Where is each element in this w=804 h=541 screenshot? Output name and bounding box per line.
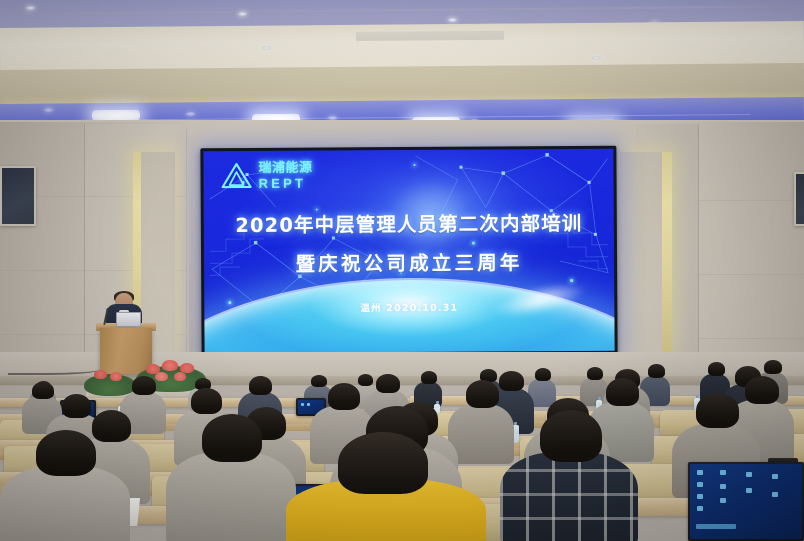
ceiling-spotlight: [262, 46, 271, 50]
attendee-hair: [376, 374, 400, 393]
podium-body: [100, 328, 152, 374]
attendee-hair: [540, 410, 602, 462]
wall-seam: [698, 128, 699, 382]
attendee-front-plaid: [500, 452, 638, 541]
wall-tile-line: [698, 200, 804, 201]
attendee-hair: [132, 376, 156, 395]
ceiling-spotlight: [448, 18, 457, 22]
ceiling-spotlight: [26, 6, 35, 10]
wall-display-panel-left[interactable]: [0, 166, 36, 226]
right-wall-recess-inner: [620, 152, 662, 352]
attendee-hair: [648, 364, 665, 378]
attendee-front-center-left: [166, 452, 296, 541]
logo-english-text: REPT: [259, 176, 313, 189]
mountain-triangle-icon: [219, 161, 253, 190]
attendee-torso: [0, 466, 130, 541]
attendee-hair: [62, 394, 91, 418]
attendee-hair: [328, 383, 360, 410]
attendee-hair: [606, 378, 639, 406]
led-screen-content: 瑞浦能源 REPT 2020年中层管理人员第二次内部培训 暨庆祝公司成立三周年 …: [203, 149, 614, 354]
ceiling-spotlight: [44, 108, 53, 112]
attendee-hair: [587, 367, 603, 380]
led-presentation-screen[interactable]: 瑞浦能源 REPT 2020年中层管理人员第二次内部培训 暨庆祝公司成立三周年 …: [200, 146, 617, 357]
attendee-hair: [696, 393, 739, 428]
attendee-front-left: [0, 466, 130, 541]
attendee-hair: [191, 388, 222, 414]
planter-flower: [110, 372, 122, 381]
wall-seam: [84, 124, 85, 382]
planter-flower: [155, 372, 168, 381]
presentation-title-line1: 2020年中层管理人员第二次内部培训: [204, 207, 614, 239]
attendee-hair: [202, 414, 262, 462]
presentation-titles: 2020年中层管理人员第二次内部培训 暨庆祝公司成立三周年: [204, 207, 614, 278]
ceiling-spotlight: [238, 12, 247, 16]
planter-flower: [162, 360, 178, 371]
attendee-hair: [249, 376, 272, 395]
attendee-hair: [92, 410, 131, 442]
wall-display-panel-right[interactable]: [794, 172, 804, 226]
planter-flower: [94, 370, 107, 379]
planter-flower: [174, 372, 186, 381]
attendee-hair: [36, 430, 96, 476]
attendee-hair: [708, 362, 725, 376]
attendee-hair: [764, 360, 782, 374]
attendee-hair: [499, 371, 524, 391]
wall-tile-line: [698, 274, 804, 275]
wall-tile-line: [698, 338, 804, 339]
attendee-hair: [421, 371, 437, 384]
laptop-screen-foreground: [690, 464, 802, 539]
attendee-torso: [166, 452, 296, 541]
conference-hall-photo: 瑞浦能源 REPT 2020年中层管理人员第二次内部培训 暨庆祝公司成立三周年 …: [0, 0, 804, 541]
attendee-torso-plaid: [500, 452, 638, 541]
logo-chinese-text: 瑞浦能源: [258, 161, 312, 174]
presentation-title-line2: 暨庆祝公司成立三周年: [204, 246, 614, 278]
podium-laptop[interactable]: [116, 312, 141, 327]
attendee-hair: [535, 368, 551, 381]
attendee-hair: [466, 380, 499, 408]
attendee-hair: [32, 382, 54, 399]
ceiling-spotlight: [186, 112, 195, 116]
podium-with-speaker: [86, 296, 162, 372]
attendee-hair: [311, 375, 327, 387]
attendee-hair: [338, 432, 428, 494]
attendee-laptop-foreground[interactable]: [688, 462, 804, 541]
wall-seam: [186, 130, 187, 382]
ceiling-air-vent: [356, 31, 504, 41]
attendee-hair: [745, 376, 779, 404]
attendee-yellow-shirt: [286, 478, 486, 541]
ceiling-spotlight: [592, 56, 601, 60]
attendee-hair: [358, 374, 373, 386]
presentation-location-date: 温州 2020.10.31: [204, 299, 614, 316]
company-logo: 瑞浦能源 REPT: [219, 161, 312, 191]
